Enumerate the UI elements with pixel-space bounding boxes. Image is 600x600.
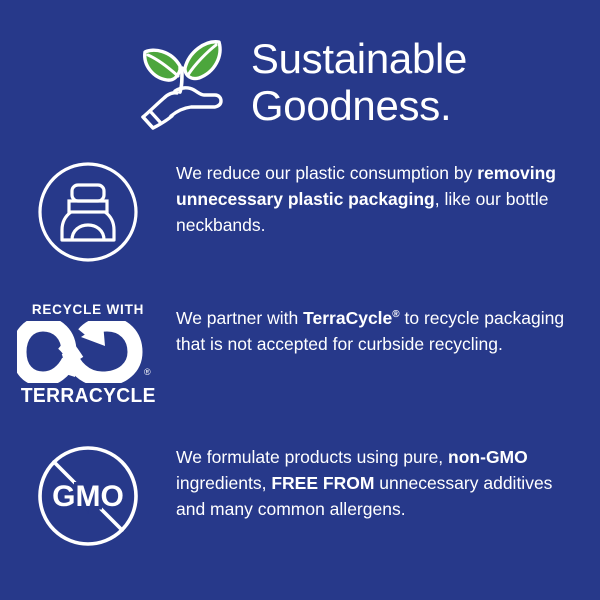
feature-text-part: We reduce our plastic consumption by [176, 163, 477, 183]
feature-text-part: We formulate products using pure, [176, 447, 448, 467]
header: Sustainable Goodness. [0, 22, 600, 142]
no-gmo-label: GMO [52, 480, 124, 513]
terracycle-logo-icon: RECYCLE WITH [13, 302, 163, 408]
feature-text-registered-mark: ® [392, 309, 399, 320]
feature-text: We reduce our plastic consumption by rem… [176, 160, 600, 238]
feature-icon-cell [0, 160, 176, 264]
feature-text-part: ingredients, [176, 473, 271, 493]
sustainability-infographic: Sustainable Goodness. [0, 0, 600, 600]
page-title-line-2: Goodness. [251, 82, 467, 129]
feature-icon-cell: RECYCLE WITH [0, 302, 176, 408]
feature-row: GMO We formulate products using pure, no… [0, 444, 600, 564]
feature-text: We formulate products using pure, non-GM… [176, 444, 600, 522]
page-title: Sustainable Goodness. [251, 35, 467, 129]
feature-text-part-bold: TerraCycle [303, 308, 392, 328]
feature-row: We reduce our plastic consumption by rem… [0, 160, 600, 280]
terracycle-wordmark: TERRACYCLE [20, 385, 155, 408]
feature-icon-cell: GMO [0, 444, 176, 548]
feature-text-part-bold: non-GMO [448, 447, 528, 467]
no-gmo-icon: GMO [36, 444, 140, 548]
feature-text: We partner with TerraCycle® to recycle p… [176, 302, 600, 357]
feature-text-part: We partner with [176, 308, 303, 328]
feature-row: RECYCLE WITH [0, 302, 600, 422]
plastic-bottle-neckband-icon [36, 160, 140, 264]
hand-holding-sprout-icon [133, 32, 241, 136]
page-title-line-1: Sustainable [251, 35, 467, 82]
terracycle-infinity-icon: ® [17, 321, 159, 383]
terracycle-registered-mark: ® [144, 367, 151, 377]
terracycle-top-label: RECYCLE WITH [32, 302, 144, 317]
feature-list: We reduce our plastic consumption by rem… [0, 160, 600, 564]
feature-text-part-bold: FREE FROM [271, 473, 374, 493]
